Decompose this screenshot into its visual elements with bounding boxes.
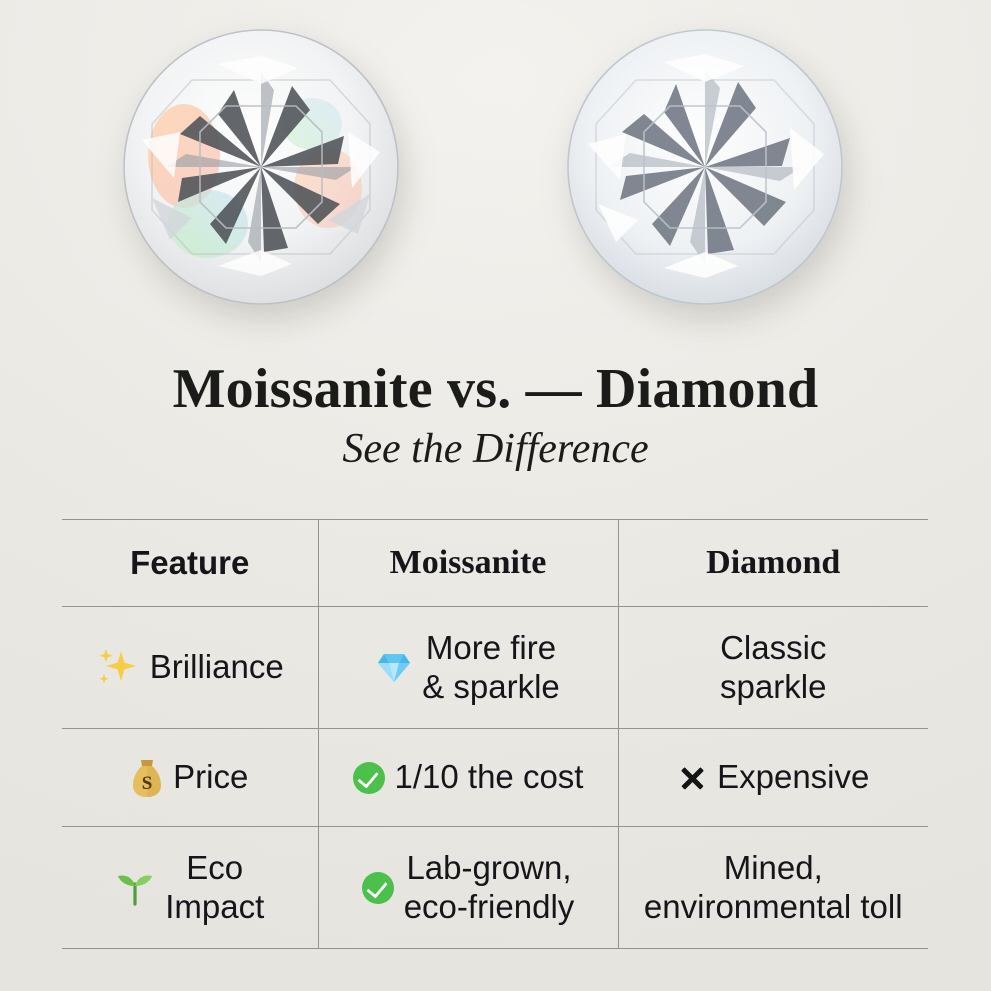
check-mark-icon bbox=[353, 762, 385, 794]
table-row: S Price 1/10 the cost Expensiv bbox=[62, 729, 928, 827]
diamond-gem bbox=[566, 28, 844, 306]
cell-feature-eco-impact: Eco Impact bbox=[62, 827, 318, 949]
cell-feature-price: S Price bbox=[62, 729, 318, 827]
column-header-diamond: Diamond bbox=[618, 520, 928, 607]
feature-label: Price bbox=[173, 758, 248, 797]
comparison-table: Feature Moissanite Diamond bbox=[62, 519, 928, 949]
cell-diamond-eco-impact: Mined, environmental toll bbox=[618, 827, 928, 949]
moissanite-gem bbox=[122, 28, 400, 306]
moissanite-value: More fire & sparkle bbox=[422, 629, 560, 707]
column-header-moissanite: Moissanite bbox=[318, 520, 618, 607]
diamond-value: Mined, environmental toll bbox=[644, 849, 903, 927]
cell-moissanite-eco-impact: Lab-grown, eco-friendly bbox=[318, 827, 618, 949]
check-mark-icon bbox=[362, 872, 394, 904]
cell-moissanite-brilliance: More fire & sparkle bbox=[318, 607, 618, 729]
moissanite-value: Lab-grown, eco-friendly bbox=[404, 849, 575, 927]
diamond-gem-figure bbox=[566, 28, 844, 306]
cell-diamond-price: Expensive bbox=[618, 729, 928, 827]
cell-diamond-brilliance: Classic sparkle bbox=[618, 607, 928, 729]
diamond-value: Classic sparkle bbox=[720, 629, 826, 707]
gem-images bbox=[0, 0, 991, 352]
seedling-icon bbox=[115, 868, 155, 908]
sparkles-icon bbox=[96, 647, 140, 689]
diamond-value: Expensive bbox=[717, 758, 869, 797]
title-block: Moissanite vs. — Diamond See the Differe… bbox=[0, 360, 991, 473]
page-subtitle: See the Difference bbox=[0, 425, 991, 473]
table-header-row: Feature Moissanite Diamond bbox=[62, 520, 928, 607]
feature-label: Eco Impact bbox=[165, 849, 264, 927]
money-bag-icon: S bbox=[131, 757, 163, 799]
infographic-page: Moissanite vs. — Diamond See the Differe… bbox=[0, 0, 991, 991]
table-row: Eco Impact Lab-grown, eco-friendly bbox=[62, 827, 928, 949]
gem-stone-icon bbox=[376, 652, 412, 684]
svg-text:S: S bbox=[142, 773, 153, 794]
feature-label: Brilliance bbox=[150, 648, 284, 687]
cell-feature-brilliance: Brilliance bbox=[62, 607, 318, 729]
moissanite-gem-figure bbox=[122, 28, 400, 306]
cell-moissanite-price: 1/10 the cost bbox=[318, 729, 618, 827]
moissanite-value: 1/10 the cost bbox=[395, 758, 584, 797]
table-row: Brilliance bbox=[62, 607, 928, 729]
cross-mark-icon bbox=[677, 763, 707, 793]
page-title: Moissanite vs. — Diamond bbox=[0, 360, 991, 419]
column-header-feature: Feature bbox=[62, 520, 318, 607]
